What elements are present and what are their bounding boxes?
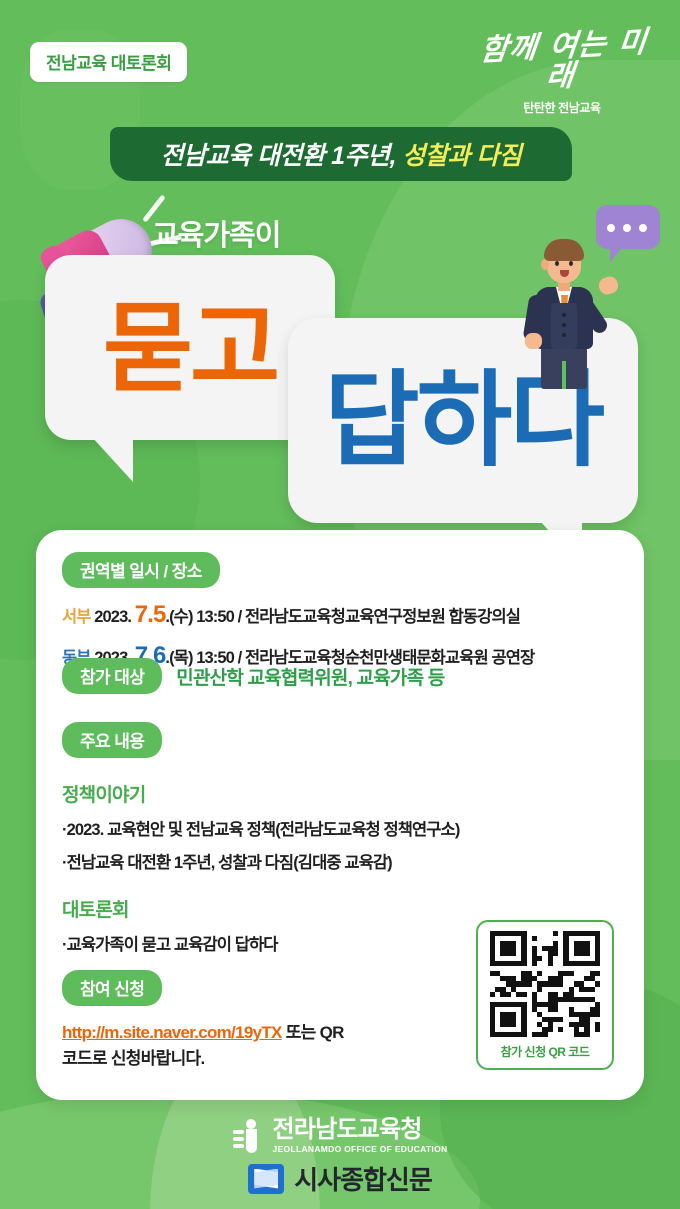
info-card: 권역별 일시 / 장소 서부 2023. 7.5.(수) 13:50 / 전라남… bbox=[36, 530, 644, 1100]
footer: 전라남도교육청 JEOLLANAMDO OFFICE OF EDUCATION … bbox=[0, 1112, 680, 1209]
content-item: ·전남교육 대전환 1주년, 성찰과 다짐(김대중 교육감) bbox=[62, 849, 459, 873]
schedule-section: 권역별 일시 / 장소 서부 2023. 7.5.(수) 13:50 / 전라남… bbox=[62, 552, 534, 670]
brand-subtitle: 탄탄한 전남교육 bbox=[472, 99, 652, 116]
education-office-icon bbox=[233, 1119, 263, 1153]
schedule-date-west: 7.5 bbox=[135, 601, 166, 628]
label-education-family: 교육가족이 bbox=[152, 212, 280, 254]
person-hand-right bbox=[597, 274, 621, 296]
logo-education-office: 전라남도교육청 JEOLLANAMDO OFFICE OF EDUCATION bbox=[0, 1118, 680, 1154]
content-section: 주요 내용 정책이야기 ·2023. 교육현안 및 전남교육 정책(전라남도교육… bbox=[62, 722, 459, 955]
content-pill: 주요 내용 bbox=[62, 722, 162, 758]
hero-section: 교육가족이 묻고 교육감이 답하다 bbox=[0, 190, 680, 530]
apply-pill: 참여 신청 bbox=[62, 970, 162, 1006]
schedule-year-west: 2023. bbox=[94, 608, 131, 626]
schedule-tail-west: .(수) 13:50 / 전라남도교육청교육연구정보원 합동강의실 bbox=[165, 608, 520, 626]
ribbon-text-plain: 전남교육 대전환 1주년, bbox=[161, 142, 403, 170]
apply-instructions: http://m.site.naver.com/19yTX 또는 QR코드로 신… bbox=[62, 1020, 344, 1073]
target-value: 민관산학 교육협력위원, 교육가족 등 bbox=[176, 663, 444, 690]
content-heading-debate: 대토론회 bbox=[62, 895, 459, 922]
apply-after-url: 또는 QR bbox=[282, 1023, 344, 1042]
person-button bbox=[562, 313, 566, 317]
schedule-pill: 권역별 일시 / 장소 bbox=[62, 552, 220, 588]
education-office-name-en: JEOLLANAMDO OFFICE OF EDUCATION bbox=[273, 1145, 448, 1154]
ribbon-text: 전남교육 대전환 1주년, 성찰과 다짐 bbox=[161, 136, 522, 172]
apply-section: 참여 신청 http://m.site.naver.com/19yTX 또는 Q… bbox=[62, 970, 344, 1073]
education-office-text: 전라남도교육청 JEOLLANAMDO OFFICE OF EDUCATION bbox=[273, 1118, 448, 1154]
person-hair bbox=[544, 239, 584, 261]
event-badge: 전남교육 대토론회 bbox=[30, 42, 187, 82]
brand-slogan: 함께 여는 미래 bbox=[468, 27, 656, 96]
content-heading-policy: 정책이야기 bbox=[62, 780, 459, 807]
target-section: 참가 대상 민관산학 교육협력위원, 교육가족 등 bbox=[62, 658, 444, 694]
newspaper-book-icon bbox=[248, 1164, 284, 1194]
content-item: ·교육가족이 묻고 교육감이 답하다 bbox=[62, 931, 459, 955]
registration-url-link[interactable]: http://m.site.naver.com/19yTX bbox=[62, 1023, 282, 1042]
qr-caption: 참가 신청 QR 코드 bbox=[501, 1043, 590, 1060]
theme-ribbon: 전남교육 대전환 1주년, 성찰과 다짐 bbox=[110, 127, 572, 181]
person-hand-left bbox=[525, 333, 542, 349]
region-west: 서부 bbox=[62, 608, 91, 626]
schedule-row-west: 서부 2023. 7.5.(수) 13:50 / 전라남도교육청교육연구정보원 … bbox=[62, 601, 534, 629]
target-pill: 참가 대상 bbox=[62, 658, 162, 694]
superintendent-illustration bbox=[513, 215, 623, 395]
person-eye bbox=[569, 261, 573, 266]
qr-code-image bbox=[490, 931, 600, 1037]
logo-newspaper: 시사종합신문 bbox=[0, 1160, 680, 1197]
person-leg-gap bbox=[562, 361, 566, 389]
apply-line2: 코드로 신청바랍니다. bbox=[62, 1049, 205, 1068]
poster-root: 전남교육 대토론회 함께 여는 미래 탄탄한 전남교육 전남교육 대전환 1주년… bbox=[0, 0, 680, 1209]
newspaper-name: 시사종합신문 bbox=[294, 1160, 432, 1197]
person-eye bbox=[555, 261, 559, 266]
person-button bbox=[562, 333, 566, 337]
content-item: ·2023. 교육현안 및 전남교육 정책(전라남도교육청 정책연구소) bbox=[62, 816, 459, 840]
brand-logo: 함께 여는 미래 탄탄한 전남교육 bbox=[472, 32, 652, 116]
qr-code-box[interactable]: 참가 신청 QR 코드 bbox=[476, 920, 614, 1070]
education-office-name-ko: 전라남도교육청 bbox=[273, 1118, 448, 1142]
person-button bbox=[562, 323, 566, 327]
ribbon-text-highlight: 성찰과 다짐 bbox=[402, 142, 521, 170]
